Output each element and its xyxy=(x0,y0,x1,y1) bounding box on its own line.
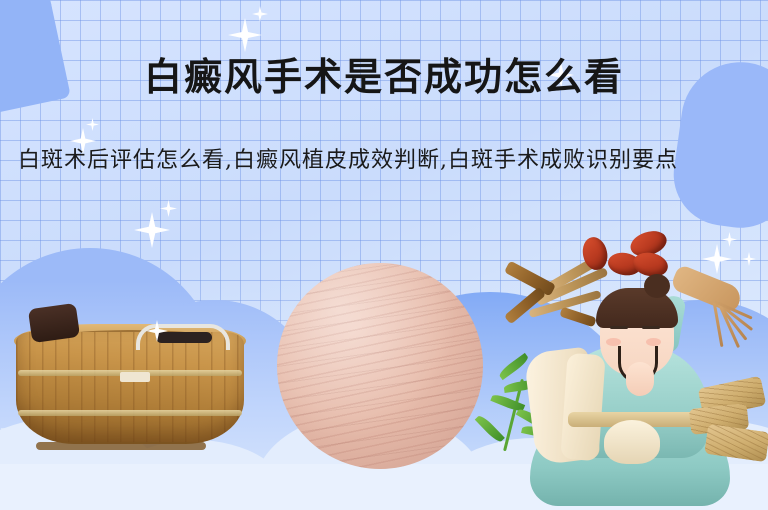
bathtub-pillow xyxy=(28,303,80,343)
bathtub-grip xyxy=(156,332,212,343)
bathtub-foot xyxy=(36,442,206,450)
bathtub-label-tag xyxy=(120,372,150,382)
sparkle-right-small-icon xyxy=(722,232,737,247)
sparkle-lower-left-small-icon xyxy=(160,200,177,217)
bathtub-hoop-lower xyxy=(18,410,242,416)
scholar-sash-knot xyxy=(604,420,660,464)
poster-canvas: 白癜风手术是否成功怎么看 白斑术后评估怎么看,白癜风植皮成效判断,白斑手术成败识… xyxy=(0,0,768,510)
page-title: 白癜风手术是否成功怎么看 xyxy=(0,46,768,101)
skin-highlight xyxy=(277,263,483,469)
sparkle-lower-left-icon xyxy=(134,212,170,248)
sparkle-title-left-small-icon xyxy=(252,6,268,22)
page-subtitle: 白斑术后评估怎么看,白癜风植皮成效判断,白斑手术成败识别要点 xyxy=(18,145,752,176)
scholar-eye-right xyxy=(642,326,660,329)
skin-closeup-circle xyxy=(277,263,483,469)
scholar-eye-left xyxy=(610,326,628,329)
wooden-bathtub xyxy=(8,300,258,465)
scholar-scroll-page xyxy=(560,353,605,461)
scholar-hair-bun xyxy=(644,274,670,298)
scholar-hand xyxy=(626,362,654,396)
scholar-blush-left xyxy=(606,338,621,346)
sparkle-far-right-icon xyxy=(742,252,756,266)
scholar-blush-right xyxy=(646,338,661,346)
sparkle-subtitle-small-icon xyxy=(86,118,99,131)
